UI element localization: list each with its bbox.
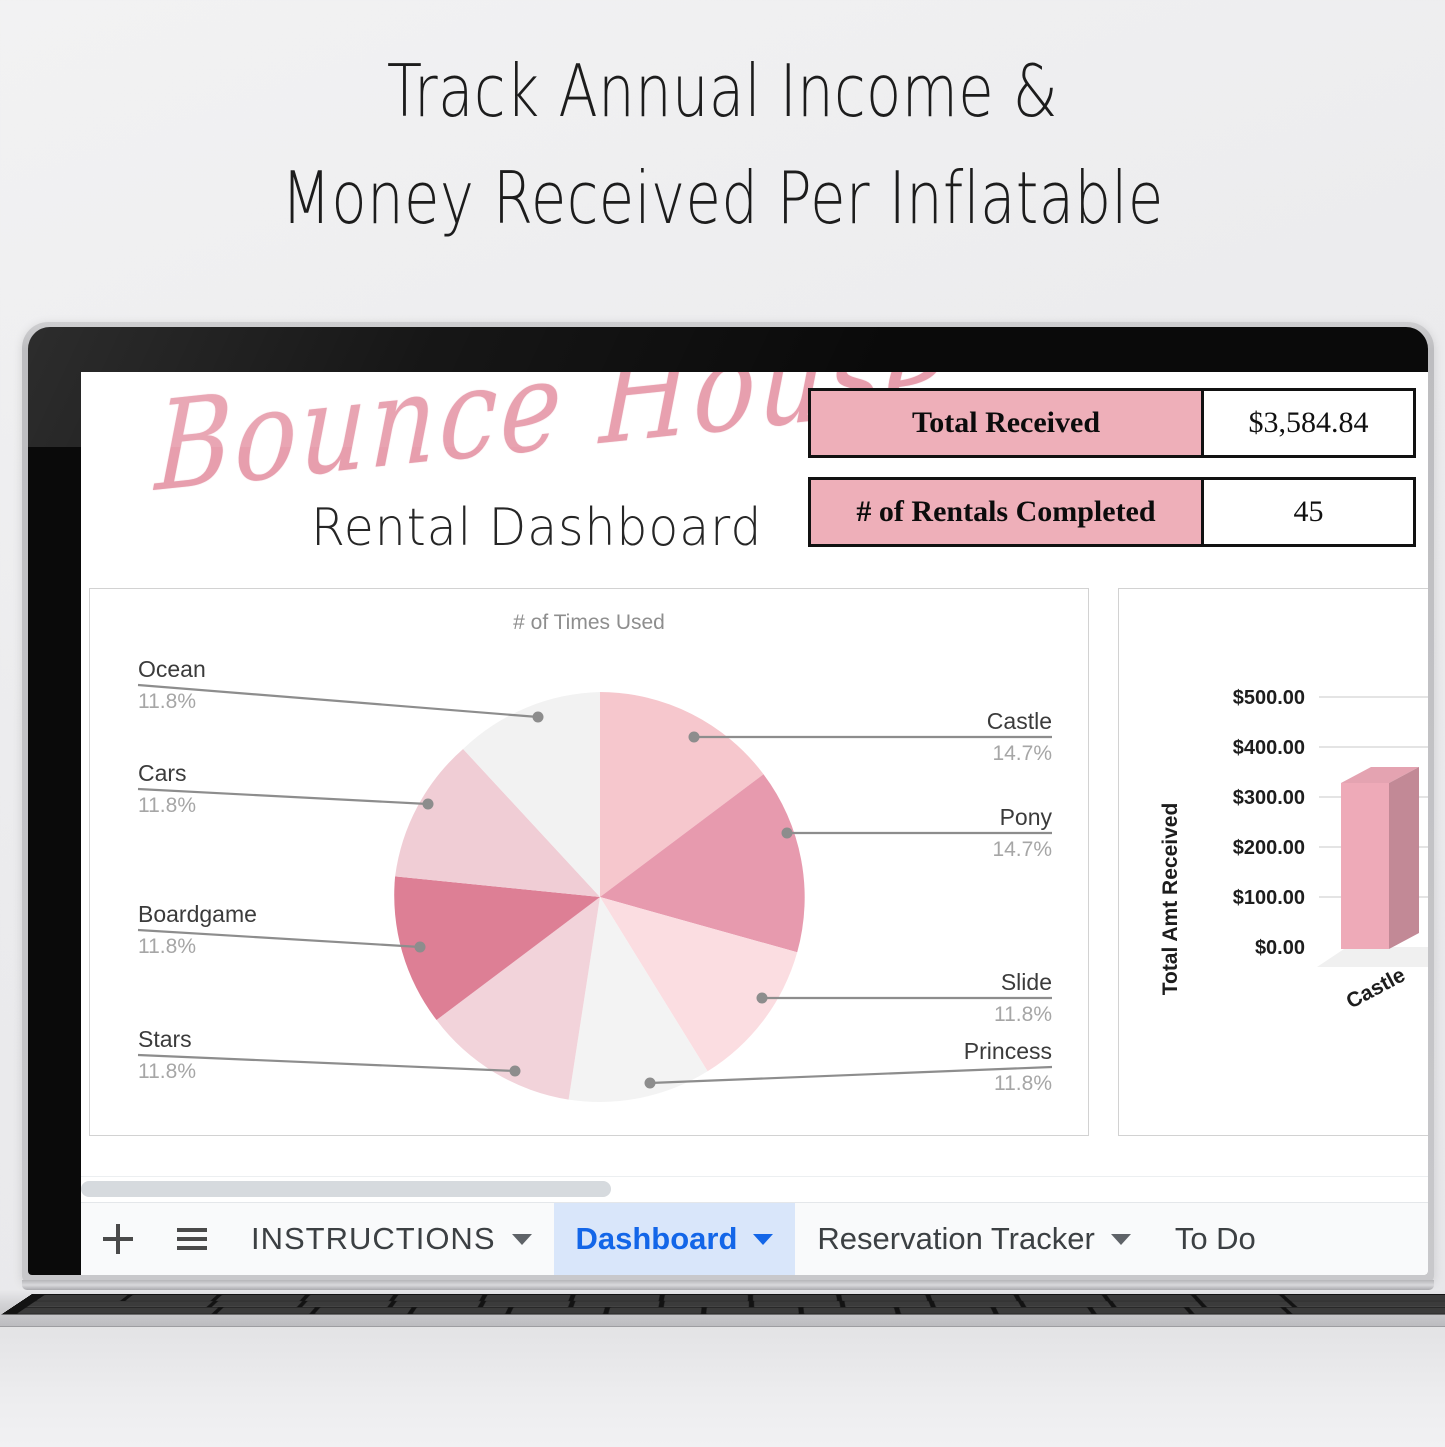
horizontal-scrollbar[interactable]	[81, 1176, 1428, 1203]
pie-label-cars-percent: 11.8%	[138, 794, 196, 817]
plus-icon	[103, 1224, 133, 1254]
logo-subtitle-text: Rental Dashboard	[311, 498, 762, 558]
laptop-keyboard	[1, 1294, 1445, 1315]
pie-label-stars-percent: 11.8%	[138, 1060, 196, 1083]
stat-total-received-label: Total Received	[811, 391, 1204, 455]
keyboard-row	[3, 1308, 1445, 1314]
pie-label-slide-name: Slide	[1001, 969, 1052, 995]
stat-rentals-completed-label: # of Rentals Completed	[811, 480, 1204, 544]
pie-label-castle-percent: 14.7%	[992, 742, 1052, 765]
stat-total-received: Total Received $3,584.84	[808, 388, 1416, 458]
pie-labels-left: Ocean 11.8% Cars 11.8% Boardgame 11.8% S…	[138, 656, 257, 1083]
brand-logo: Bounce House Rental Dashboard	[126, 380, 786, 570]
bar-y-tick-500: $500.00	[1233, 687, 1305, 709]
all-sheets-button[interactable]	[155, 1203, 229, 1275]
bar-y-tick-200: $200.00	[1233, 837, 1305, 859]
pie-label-stars-name: Stars	[138, 1026, 192, 1052]
bar-y-tick-400: $400.00	[1233, 737, 1305, 759]
pie-label-cars-name: Cars	[138, 760, 187, 786]
pie-label-princess-name: Princess	[964, 1038, 1052, 1064]
summary-stats: Total Received $3,584.84 # of Rentals Co…	[808, 388, 1416, 566]
chevron-down-icon[interactable]	[753, 1234, 773, 1245]
sheet-tab-dashboard[interactable]: Dashboard	[554, 1203, 796, 1275]
pie-slices	[394, 692, 804, 1102]
pie-chart-svg: Castle 14.7% Pony 14.7% Slide 11.8% Prin…	[90, 589, 1090, 1137]
keyboard-row	[23, 1295, 1445, 1300]
scrollbar-thumb[interactable]	[81, 1181, 611, 1197]
bar-category-castle: Castle	[1343, 964, 1409, 1014]
sheet-tab-reservation-tracker[interactable]: Reservation Tracker	[795, 1203, 1152, 1275]
stat-rentals-completed-value[interactable]: 45	[1204, 480, 1413, 544]
promo-heading-line-1: Track Annual Income &	[145, 38, 1301, 145]
sheet-tab-to-do[interactable]: To Do	[1153, 1203, 1278, 1275]
bar-chart-card[interactable]: Tot Total Amt Received	[1118, 588, 1428, 1136]
pie-label-boardgame-percent: 11.8%	[138, 935, 196, 958]
laptop-deck	[0, 1327, 1445, 1447]
promo-heading-line-2: Money Received Per Inflatable	[145, 145, 1301, 252]
pie-label-slide-percent: 11.8%	[994, 1003, 1052, 1026]
pie-label-pony-name: Pony	[1000, 804, 1053, 830]
bar-castle[interactable]	[1341, 767, 1419, 949]
pie-label-pony-percent: 14.7%	[992, 838, 1052, 861]
sheet-tab-reservation-tracker-label: Reservation Tracker	[817, 1221, 1094, 1257]
pie-label-princess-percent: 11.8%	[994, 1072, 1052, 1095]
promo-heading: Track Annual Income & Money Received Per…	[145, 38, 1301, 251]
hamburger-icon	[177, 1228, 207, 1250]
bar-y-tick-300: $300.00	[1233, 787, 1305, 809]
laptop-bezel: Bounce House Rental Dashboard Total Rece…	[28, 327, 1428, 1275]
laptop-hinge	[22, 1280, 1434, 1290]
pie-label-ocean-percent: 11.8%	[138, 690, 196, 713]
sheet-tab-to-do-label: To Do	[1175, 1221, 1256, 1257]
bar-chart-y-axis-title: Total Amt Received	[1159, 803, 1182, 996]
stat-rentals-completed: # of Rentals Completed 45	[808, 477, 1416, 547]
pie-label-castle-name: Castle	[987, 708, 1052, 734]
pie-labels-right: Castle 14.7% Pony 14.7% Slide 11.8% Prin…	[964, 708, 1053, 1095]
scrollbar-track[interactable]	[81, 1181, 1428, 1197]
add-sheet-button[interactable]	[81, 1203, 155, 1275]
keyboard-row	[13, 1301, 1445, 1306]
stat-total-received-value[interactable]: $3,584.84	[1204, 391, 1413, 455]
laptop-mockup: Bounce House Rental Dashboard Total Rece…	[22, 322, 1434, 1297]
sheet-tab-dashboard-label: Dashboard	[576, 1221, 738, 1257]
bar-chart-y-ticks: $500.00 $400.00 $300.00 $200.00 $100.00 …	[1233, 687, 1305, 959]
dashboard-header: Bounce House Rental Dashboard Total Rece…	[81, 372, 1428, 582]
chevron-down-icon[interactable]	[512, 1234, 532, 1245]
pie-label-ocean-name: Ocean	[138, 656, 206, 682]
bar-y-tick-100: $100.00	[1233, 887, 1305, 909]
spreadsheet-screen: Bounce House Rental Dashboard Total Rece…	[81, 372, 1428, 1275]
pie-chart-card[interactable]: # of Times Used	[89, 588, 1089, 1136]
pie-label-boardgame-name: Boardgame	[138, 901, 257, 927]
bar-chart-floor	[1317, 947, 1428, 967]
chevron-down-icon[interactable]	[1111, 1234, 1131, 1245]
sheet-tab-instructions-label: INSTRUCTIONS	[251, 1221, 496, 1257]
sheet-tab-bar: INSTRUCTIONS Dashboard Reservation Track…	[81, 1202, 1428, 1275]
bar-y-tick-0: $0.00	[1255, 937, 1305, 959]
sheet-tab-instructions[interactable]: INSTRUCTIONS	[229, 1203, 554, 1275]
charts-row: # of Times Used	[81, 582, 1428, 1142]
bar-chart-svg: Total Amt Received $500.00 $400.	[1119, 589, 1428, 1137]
